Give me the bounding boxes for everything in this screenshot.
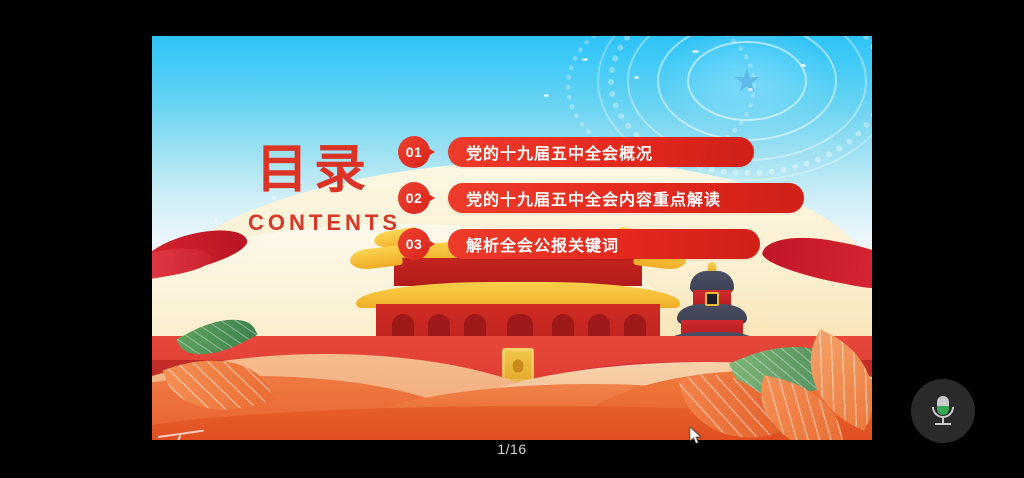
toc-item-03[interactable]: 03 解析全会公报关键词 [398,228,818,260]
toc-list: 01 党的十九届五中全会概况 02 党的十九届五中全会内容重点解读 [398,136,818,274]
sky-fleck [544,94,549,97]
toc-pill-03[interactable]: 解析全会公报关键词 [448,229,760,259]
toc-number-badge-01: 01 [398,136,440,168]
mouse-cursor-icon [690,427,702,444]
page-title-cn: 目录 [256,144,372,196]
toc-pill-01[interactable]: 党的十九届五中全会概况 [448,137,754,167]
toc-label-03: 解析全会公报关键词 [466,232,619,256]
microphone-button[interactable] [911,379,975,443]
page-title-en: CONTENTS [248,210,401,236]
page-indicator: 1/16 [0,441,1024,457]
mic-base [935,423,951,425]
sky-fleck [800,64,806,67]
slide-canvas[interactable]: 目录 CONTENTS 01 党的十九届五中全会概况 02 [152,36,872,440]
toc-label-01: 党的十九届五中全会概况 [466,140,653,164]
sky-fleck [634,76,639,79]
temple-window [705,292,719,306]
toc-number-badge-02: 02 [398,182,440,214]
sky-fleck [582,58,588,61]
toc-number-badge-03: 03 [398,228,440,260]
presentation-viewer: 目录 CONTENTS 01 党的十九届五中全会概况 02 [0,0,1024,478]
sky-fleck [692,50,699,53]
sky-fleck [748,88,753,91]
sky-fleck [214,218,218,222]
toc-item-02[interactable]: 02 党的十九届五中全会内容重点解读 [398,182,818,214]
toc-number-01: 01 [398,136,430,168]
microphone-icon [931,396,955,426]
tiananmen-portrait-emblem [502,348,534,382]
toc-item-01[interactable]: 01 党的十九届五中全会概况 [398,136,818,168]
tiananmen-colonnade [376,304,660,340]
toc-number-03: 03 [398,228,430,260]
toc-number-02: 02 [398,182,430,214]
toc-label-02: 党的十九届五中全会内容重点解读 [466,186,721,210]
toc-pill-02[interactable]: 党的十九届五中全会内容重点解读 [448,183,804,213]
